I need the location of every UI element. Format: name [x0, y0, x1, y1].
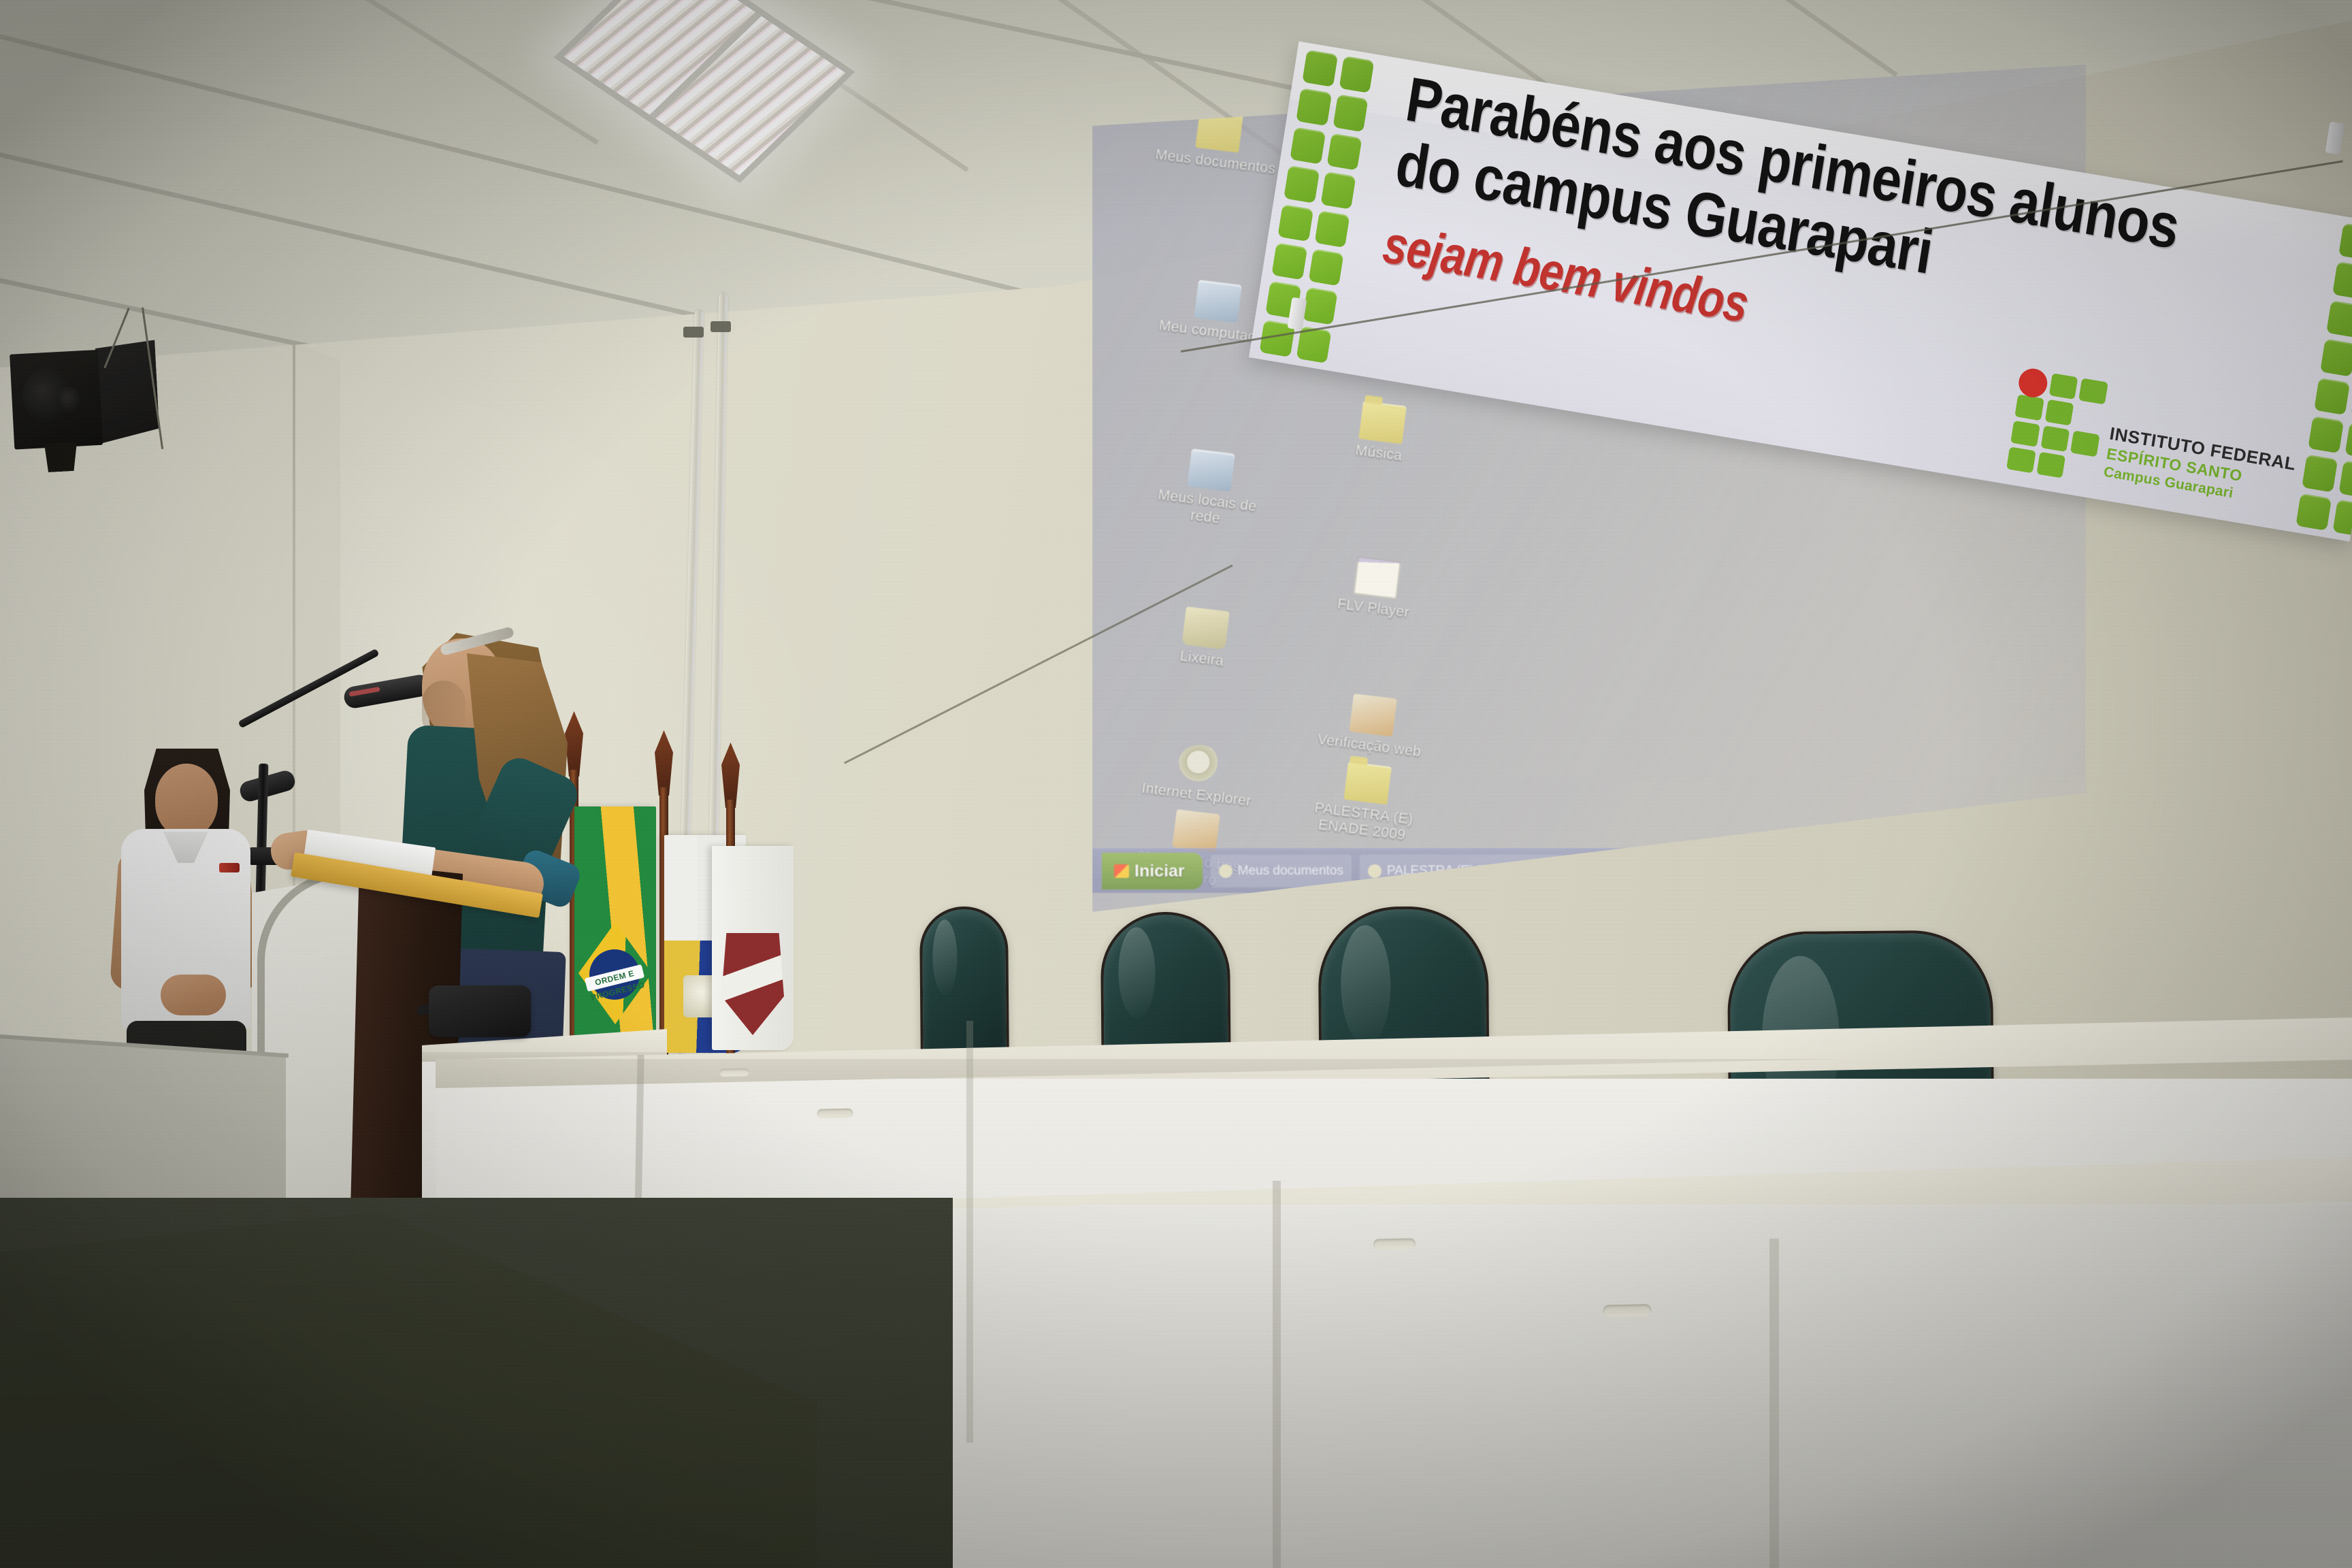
table-grommet-2 [817, 1109, 853, 1119]
ifes-logo-wordmark: INSTITUTO FEDERAL ESPÍRITO SANTO Campus … [2102, 422, 2298, 516]
table-divider-2 [966, 1021, 973, 1443]
desktop-icon-palestra-enade[interactable]: PALESTRA (E) ENADE 2009 [1300, 757, 1431, 845]
camera-bag-icon [429, 985, 531, 1037]
institutional-flag-crest-icon [721, 933, 784, 1035]
nero-icon [1172, 809, 1220, 852]
speaker-front-baffle [10, 350, 103, 450]
document-icon [1349, 693, 1396, 736]
assistant-clasped-hands [161, 975, 226, 1015]
desktop-icon-musica[interactable]: Música [1317, 396, 1445, 469]
desktop-icon-verificacao-web[interactable]: Verificação web [1307, 689, 1436, 762]
my-computer-icon [1194, 280, 1241, 323]
start-button-label: Iniciar [1134, 862, 1185, 881]
desktop-icon-meus-locais-de-rede[interactable]: Meus locais de rede [1143, 444, 1274, 532]
internet-explorer-icon [1176, 742, 1224, 785]
table-divider-3 [1273, 1181, 1281, 1568]
folder-icon [1343, 762, 1391, 804]
conduit-clamp-top [683, 327, 704, 338]
network-places-icon [1187, 448, 1235, 491]
flv-player-icon [1353, 556, 1401, 599]
desktop-icon-lixeira[interactable]: Lixeira [1140, 602, 1269, 674]
speaker-mount-bracket [44, 442, 78, 472]
start-button[interactable]: Iniciar [1102, 853, 1203, 889]
folder-icon [1358, 401, 1406, 444]
auditorium-photo: Meus documentos WinZip Meu computador Da… [0, 0, 2352, 1568]
table-grommet-3 [1373, 1238, 1416, 1249]
table-divider-4 [1769, 1239, 1779, 1568]
window-icon [1368, 864, 1382, 878]
ifes-logo-mark-icon [2006, 368, 2108, 483]
desktop-icon-flv-player[interactable]: FLV Player [1311, 551, 1440, 624]
recycle-bin-icon [1181, 606, 1229, 649]
assistant-shirt-logo [219, 863, 240, 872]
table-grommet-1 [719, 1068, 749, 1077]
table-grommet-4 [1603, 1304, 1652, 1318]
windows-flag-icon [1114, 864, 1129, 878]
window-icon [1219, 864, 1232, 878]
taskbar-button-0[interactable]: Meus documentos [1211, 855, 1352, 887]
assistant-head [155, 764, 218, 838]
conduit-clamp-top2 [710, 321, 731, 332]
wall-speaker [10, 346, 161, 459]
desktop-icon-internet-explorer[interactable]: Internet Explorer [1134, 738, 1263, 811]
